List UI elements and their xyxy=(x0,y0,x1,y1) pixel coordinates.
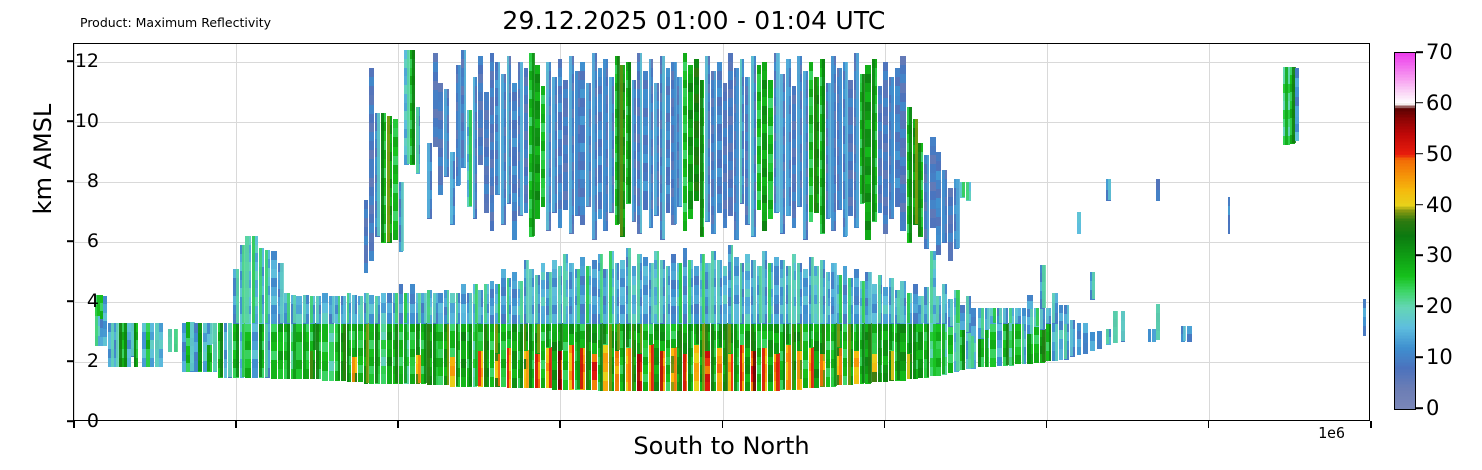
x-axis-label: South to North xyxy=(73,432,1370,460)
colorbar-tick-label: 0 xyxy=(1426,396,1439,420)
plot-area xyxy=(73,43,1370,421)
x-tick-mark xyxy=(73,421,75,428)
reflectivity-cells xyxy=(74,44,1369,420)
colorbar-tick-label: 70 xyxy=(1426,40,1453,64)
y-axis-label: km AMSL xyxy=(29,64,57,254)
y-tick-mark xyxy=(67,300,73,302)
y-tick-mark xyxy=(67,240,73,242)
colorbar-tick-label: 60 xyxy=(1426,91,1453,115)
colorbar-tick-mark xyxy=(1416,255,1423,257)
y-tick-mark xyxy=(67,60,73,62)
x-tick-mark xyxy=(559,421,561,428)
colorbar-tick-label: 50 xyxy=(1426,142,1453,166)
colorbar-tick-mark xyxy=(1416,102,1423,104)
colorbar-tick-mark xyxy=(1416,51,1423,53)
radar-cross-section-figure: Product: Maximum Reflectivity 29.12.2025… xyxy=(0,0,1482,470)
colorbar-tick-label: 20 xyxy=(1426,294,1453,318)
colorbar-tick-mark xyxy=(1416,407,1423,409)
colorbar xyxy=(1394,52,1416,410)
y-tick-mark xyxy=(67,180,73,182)
colorbar-tick-label: 30 xyxy=(1426,243,1453,267)
x-axis-offset-text: 1e6 xyxy=(1318,424,1345,442)
y-tick-mark xyxy=(67,360,73,362)
colorbar-tick-label: 40 xyxy=(1426,193,1453,217)
colorbar-tick-label: 10 xyxy=(1426,345,1453,369)
x-tick-mark xyxy=(1208,421,1210,428)
colorbar-tick-mark xyxy=(1416,305,1423,307)
x-tick-mark xyxy=(1046,421,1048,428)
y-tick-mark xyxy=(67,120,73,122)
x-tick-mark xyxy=(1370,421,1372,428)
colorbar-tick-mark xyxy=(1416,356,1423,358)
colorbar-tick-mark xyxy=(1416,204,1423,206)
x-tick-mark xyxy=(722,421,724,428)
x-tick-mark xyxy=(235,421,237,428)
x-tick-mark xyxy=(397,421,399,428)
chart-title: 29.12.2025 01:00 - 01:04 UTC xyxy=(0,6,1388,35)
colorbar-tick-mark xyxy=(1416,153,1423,155)
x-tick-mark xyxy=(884,421,886,428)
